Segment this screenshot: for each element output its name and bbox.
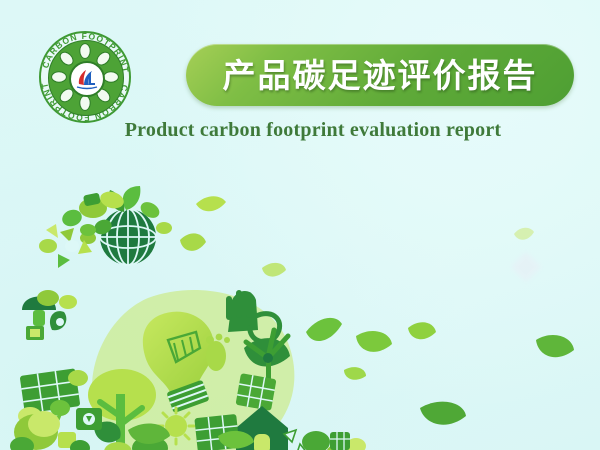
globe-icon [100, 209, 156, 265]
battery-icon [26, 326, 44, 340]
page-title: 产品碳足迹评价报告 [223, 59, 538, 92]
sl-monogram-icon [71, 63, 103, 95]
blob-icon [37, 290, 59, 306]
solar-panel-icon [235, 373, 276, 411]
solar-panel-icon [194, 414, 239, 450]
hand-leaf-icon [50, 311, 66, 330]
sun-icon [158, 408, 194, 444]
logo-monogram [69, 61, 105, 97]
carbon-footprint-logo: CARBON FOOTPRINT · CARBON FOOTPRINT · [39, 31, 131, 123]
eco-icon-footprint-collage [0, 180, 420, 450]
title-banner: 产品碳足迹评价报告 [186, 44, 574, 106]
recycle-icon [39, 224, 96, 268]
page-subtitle: Product carbon footprint evaluation repo… [0, 119, 600, 142]
blob-icon [59, 295, 77, 309]
lower-right-icon-cluster [300, 431, 389, 450]
report-cover-page: CARBON FOOTPRINT · CARBON FOOTPRINT · [0, 0, 600, 450]
